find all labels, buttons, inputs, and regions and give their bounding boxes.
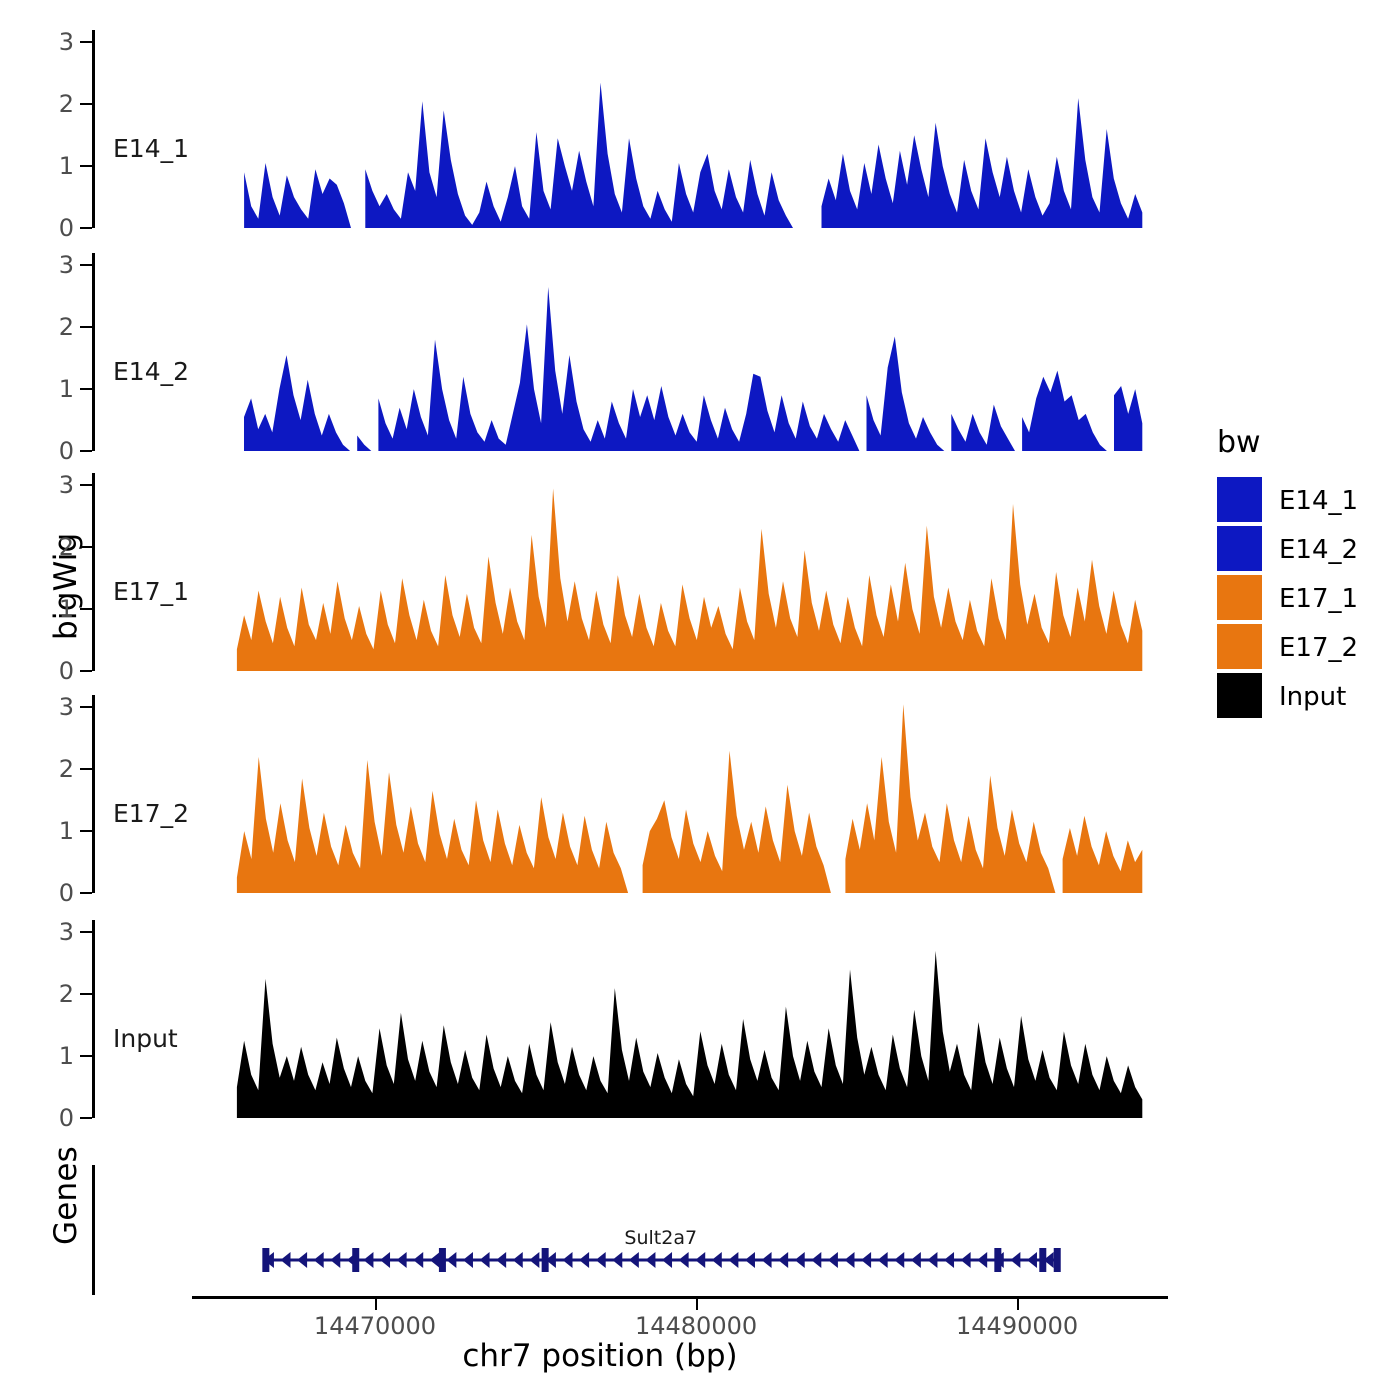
strand-arrow-icon [397,1252,407,1268]
strand-arrow-icon [977,1252,987,1268]
strand-arrow-icon [894,1252,904,1268]
strand-arrow-icon [944,1252,954,1268]
y-tick-mark [80,326,92,328]
x-tick-label: 14480000 [635,1312,757,1340]
genes-panel: Sult2a7 [0,1165,1200,1295]
track-label-e17_2: E17_2 [113,799,189,828]
y-tick-mark [80,165,92,167]
strand-arrow-icon [281,1252,291,1268]
track-label-e17_1: E17_1 [113,577,189,606]
strand-arrow-icon [413,1252,423,1268]
strand-arrow-icon [629,1252,639,1268]
y-tick-mark [80,608,92,610]
y-axis-line [92,473,95,671]
x-axis-title: chr7 position (bp) [0,1338,1200,1374]
x-tick-label: 14490000 [956,1312,1078,1340]
y-tick-label: 3 [14,253,74,277]
exon-block [1054,1248,1061,1272]
strand-arrow-icon [529,1252,539,1268]
strand-arrow-icon [861,1252,871,1268]
y-tick-label: 3 [14,473,74,497]
y-tick-mark [80,830,92,832]
y-tick-label: 3 [14,695,74,719]
strand-arrow-icon [679,1252,689,1268]
legend-swatch [1217,624,1262,669]
strand-arrow-icon [795,1252,805,1268]
y-tick-label: 2 [14,982,74,1006]
x-tick-mark [375,1299,377,1310]
strand-arrow-icon [579,1252,589,1268]
exon-block [352,1248,359,1272]
y-tick-label: 0 [14,1106,74,1130]
legend-item-e14_2[interactable]: E14_2 [1217,526,1397,572]
track-label-e14_1: E14_1 [113,134,189,163]
y-tick-label: 0 [14,439,74,463]
strand-arrow-icon [380,1252,390,1268]
legend-item-e17_1[interactable]: E17_1 [1217,575,1397,621]
y-axis-line [92,253,95,451]
strand-arrow-icon [496,1252,506,1268]
strand-arrow-icon [728,1252,738,1268]
strand-arrow-icon [712,1252,722,1268]
x-tick-mark [1017,1299,1019,1310]
y-tick-label: 2 [14,92,74,116]
strand-arrow-icon [297,1252,307,1268]
genome-browser-figure: bigWig Genes 0123E14_10123E14_20123E17_1… [0,0,1400,1400]
y-tick-mark [80,931,92,933]
legend-item-e17_2[interactable]: E17_2 [1217,624,1397,670]
y-tick-label: 0 [14,881,74,905]
y-tick-mark [80,768,92,770]
y-tick-label: 2 [14,315,74,339]
coverage-track-input[interactable] [192,920,1172,1118]
y-tick-label: 3 [14,30,74,54]
strand-arrow-icon [463,1252,473,1268]
y-tick-label: 1 [14,1044,74,1068]
y-tick-label: 1 [14,377,74,401]
strand-arrow-icon [1010,1252,1020,1268]
exon-block [262,1248,269,1272]
y-tick-mark [80,1055,92,1057]
y-tick-label: 0 [14,216,74,240]
strand-arrow-icon [762,1252,772,1268]
legend-label: E17_2 [1279,633,1358,663]
strand-arrow-icon [662,1252,672,1268]
strand-arrow-icon [695,1252,705,1268]
strand-arrow-icon [811,1252,821,1268]
legend-swatch [1217,526,1262,571]
coverage-area [237,951,1142,1118]
y-tick-mark [80,450,92,452]
y-tick-mark [80,264,92,266]
y-tick-mark [80,484,92,486]
coverage-track-e14_2[interactable] [192,253,1172,451]
strand-arrow-icon [961,1252,971,1268]
strand-arrow-icon [513,1252,523,1268]
y-tick-mark [80,546,92,548]
legend-label: Input [1279,682,1346,712]
strand-arrow-icon [927,1252,937,1268]
y-tick-mark [80,892,92,894]
coverage-area [244,287,1142,451]
exon-block [994,1248,1001,1272]
legend-item-e14_1[interactable]: E14_1 [1217,477,1397,523]
y-tick-label: 2 [14,535,74,559]
exon-block [439,1248,446,1272]
y-tick-label: 1 [14,819,74,843]
strand-arrow-icon [828,1252,838,1268]
coverage-track-e17_1[interactable] [192,473,1172,671]
strand-arrow-icon [596,1252,606,1268]
y-tick-label: 3 [14,920,74,944]
x-axis-line [192,1296,1168,1299]
strand-arrow-icon [430,1252,440,1268]
y-axis-line [92,920,95,1118]
track-label-input: Input [113,1024,178,1053]
legend-swatch [1217,477,1262,522]
gene-model[interactable] [192,1165,1172,1295]
coverage-area [237,704,1142,893]
coverage-track-e17_2[interactable] [192,695,1172,893]
bigwig-panel-input: 0123Input [0,920,1200,1118]
strand-arrow-icon [446,1252,456,1268]
strand-arrow-icon [330,1252,340,1268]
bigwig-panel-e14_1: 0123E14_1 [0,30,1200,228]
y-tick-label: 1 [14,597,74,621]
strand-arrow-icon [745,1252,755,1268]
coverage-area [244,83,1142,228]
legend-label: E17_1 [1279,584,1358,614]
strand-arrow-icon [645,1252,655,1268]
y-tick-label: 2 [14,757,74,781]
y-tick-mark [80,227,92,229]
strand-arrow-icon [612,1252,622,1268]
exon-block [1039,1248,1046,1272]
y-tick-mark [80,1117,92,1119]
y-axis-line [92,30,95,228]
bigwig-panel-e17_1: 0123E17_1 [0,473,1200,671]
y-axis-line [92,695,95,893]
legend-swatch [1217,673,1262,718]
strand-arrow-icon [563,1252,573,1268]
coverage-track-e14_1[interactable] [192,30,1172,228]
strand-arrow-icon [363,1252,373,1268]
legend-swatch [1217,575,1262,620]
y-tick-mark [80,103,92,105]
legend-title: bw [1217,425,1261,460]
strand-arrow-icon [778,1252,788,1268]
bigwig-panel-e17_2: 0123E17_2 [0,695,1200,893]
legend-label: E14_1 [1279,486,1358,516]
x-tick-mark [696,1299,698,1310]
legend-label: E14_2 [1279,535,1358,565]
y-tick-mark [80,388,92,390]
strand-arrow-icon [911,1252,921,1268]
x-tick-label: 14470000 [314,1312,436,1340]
strand-arrow-icon [480,1252,490,1268]
exon-block [542,1248,549,1272]
coverage-area [237,489,1142,672]
y-tick-mark [80,670,92,672]
legend-item-input[interactable]: Input [1217,673,1397,719]
bigwig-panel-e14_2: 0123E14_2 [0,253,1200,451]
y-tick-mark [80,706,92,708]
strand-arrow-icon [878,1252,888,1268]
y-tick-label: 1 [14,154,74,178]
y-tick-mark [80,41,92,43]
strand-arrow-icon [844,1252,854,1268]
y-tick-mark [80,993,92,995]
strand-arrow-icon [1027,1252,1037,1268]
y-tick-label: 0 [14,659,74,683]
track-label-e14_2: E14_2 [113,357,189,386]
strand-arrow-icon [314,1252,324,1268]
